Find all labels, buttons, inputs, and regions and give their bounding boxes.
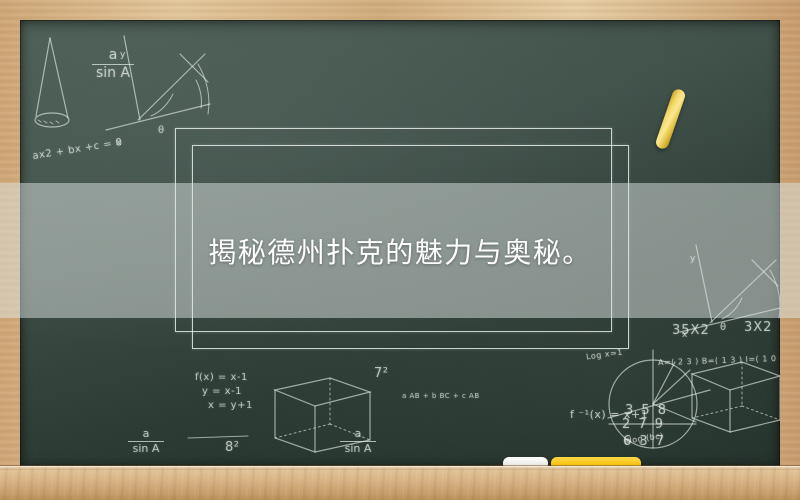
chalk-tray-lip — [0, 466, 800, 470]
chalkboard-banner-scene: a sin A y x θ ax2 + bx +c = 0 y x θ 35X2… — [0, 0, 800, 500]
page-title: 揭秘德州扑克的魅力与奥秘。 — [0, 183, 800, 318]
chalk-tray-ledge — [0, 466, 800, 500]
